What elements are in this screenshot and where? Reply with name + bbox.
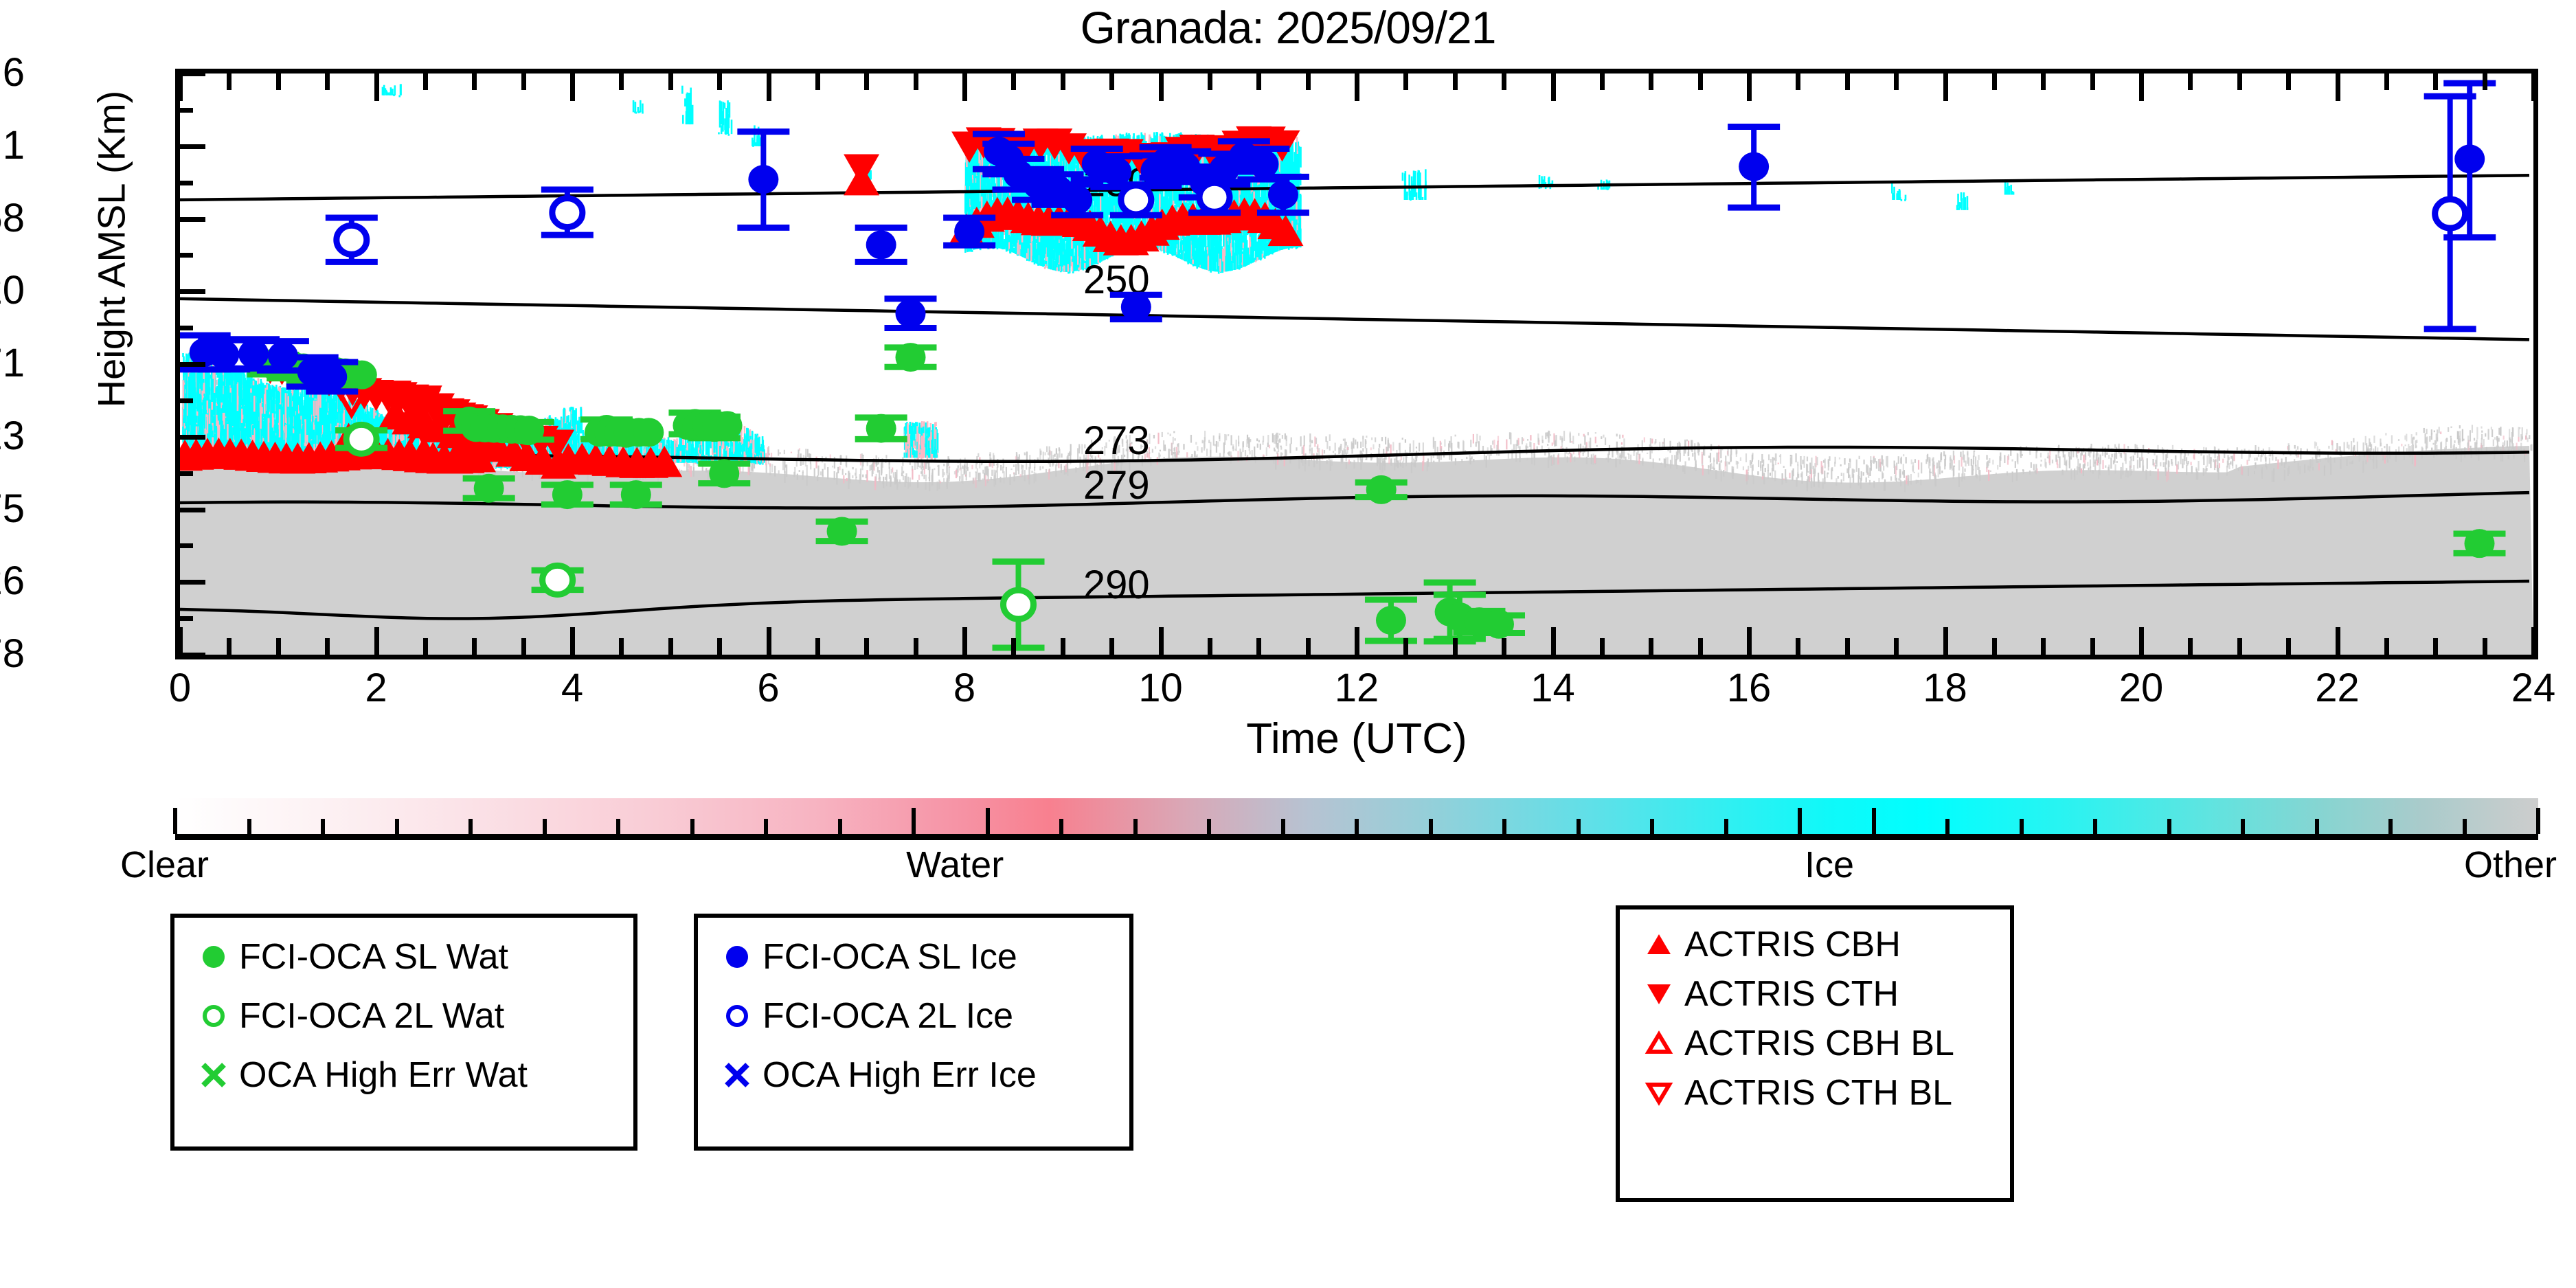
x-axis-tick xyxy=(815,638,820,655)
x-axis-tick xyxy=(325,74,330,90)
x-axis-tick-label: 14 xyxy=(1498,665,1608,711)
colorbar-tick xyxy=(1502,819,1506,834)
x-axis-tick xyxy=(914,74,918,90)
x-axis-tick xyxy=(1943,627,1948,655)
x-axis-tick xyxy=(1306,74,1311,90)
x-axis-tick xyxy=(2286,74,2291,90)
x-axis-tick xyxy=(1502,74,1506,90)
x-axis-tick xyxy=(178,74,183,101)
colorbar-tick xyxy=(1429,819,1433,834)
legend-ice-item[interactable]: FCI-OCA SL Ice xyxy=(712,941,1122,973)
y-axis-minor-tick xyxy=(175,108,193,113)
colorbar-tick xyxy=(468,819,473,834)
x-axis-tick xyxy=(2237,638,2242,655)
x-axis-tick xyxy=(276,638,281,655)
x-axis-tick xyxy=(1845,74,1850,90)
legend-x-icon xyxy=(199,1060,229,1090)
x-axis-tick xyxy=(1159,74,1164,101)
legend-open-circle-icon xyxy=(723,1002,751,1030)
x-axis-tick xyxy=(1894,638,1899,655)
x-axis-tick xyxy=(2483,638,2487,655)
legend-x-icon xyxy=(722,1060,752,1090)
legend-water-label: FCI-OCA 2L Wat xyxy=(239,998,504,1034)
x-axis-tick xyxy=(2336,74,2340,101)
colorbar-tick xyxy=(1945,819,1950,834)
x-axis-tick xyxy=(619,638,624,655)
x-axis-tick-label: 4 xyxy=(517,665,627,711)
x-axis-tick xyxy=(1845,638,1850,655)
legend-triangle-up-icon xyxy=(1644,929,1674,960)
y-axis-tick-label: 0.78 xyxy=(0,634,25,674)
x-axis-tick xyxy=(2139,627,2144,655)
colorbar-tick xyxy=(2388,819,2393,834)
colorbar-tick xyxy=(173,808,177,834)
y-axis-tick xyxy=(175,217,205,222)
x-axis-tick xyxy=(767,627,771,655)
x-axis-tick xyxy=(1796,74,1800,90)
legend-actris-item[interactable]: ACTRIS CBH xyxy=(1634,929,2003,960)
y-axis-label: Height AMSL (Km) xyxy=(89,57,134,442)
x-axis-tick xyxy=(2531,74,2536,101)
x-axis-tick xyxy=(1061,638,1065,655)
legend-actris-item[interactable]: ACTRIS CTH xyxy=(1634,978,2003,1010)
colorbar-tick xyxy=(1133,819,1138,834)
x-axis-tick xyxy=(2188,74,2193,90)
x-axis-tick xyxy=(227,638,231,655)
colorbar-tick xyxy=(2463,819,2467,834)
colorbar-tick xyxy=(2020,819,2024,834)
x-axis-tick xyxy=(2139,74,2144,101)
x-axis-tick xyxy=(374,627,379,655)
colorbar-tick xyxy=(690,819,694,834)
x-axis-tick xyxy=(767,74,771,101)
x-axis-tick xyxy=(521,74,526,90)
legend-ice-marker xyxy=(712,1060,762,1090)
x-axis-tick xyxy=(668,74,673,90)
y-axis-tick xyxy=(175,289,205,294)
legend-actris-marker xyxy=(1634,1028,1684,1059)
y-axis-minor-tick xyxy=(175,398,193,403)
x-axis-tick xyxy=(1992,74,1997,90)
x-axis-tick xyxy=(2336,627,2340,655)
legend-ice-label: FCI-OCA 2L Ice xyxy=(762,998,1013,1034)
colorbar-tick xyxy=(986,808,990,834)
x-axis-tick-label: 0 xyxy=(125,665,235,711)
legend-actris-marker xyxy=(1634,1078,1684,1108)
colorbar-label: Water xyxy=(906,844,1004,886)
x-axis-tick xyxy=(815,74,820,90)
x-axis-tick xyxy=(227,74,231,90)
x-axis-tick xyxy=(1011,638,1016,655)
x-axis-tick xyxy=(521,638,526,655)
y-axis-tick xyxy=(175,508,205,512)
x-axis-tick xyxy=(2041,638,2046,655)
x-axis-tick xyxy=(1502,638,1506,655)
legend-ice-item[interactable]: FCI-OCA 2L Ice xyxy=(712,1000,1122,1032)
legend-actris-marker xyxy=(1634,929,1684,960)
legend-water-marker xyxy=(188,943,239,971)
x-axis-tick xyxy=(717,638,722,655)
y-axis-tick-label: 2.26 xyxy=(0,561,25,601)
x-axis-tick-label: 6 xyxy=(714,665,824,711)
x-axis-tick xyxy=(423,74,428,90)
legend-actris[interactable]: ACTRIS CBHACTRIS CTHACTRIS CBH BLACTRIS … xyxy=(1616,905,2014,1202)
y-axis-minor-tick xyxy=(175,543,193,548)
legend-actris-label: ACTRIS CBH BL xyxy=(1684,1026,1954,1061)
x-axis-tick xyxy=(1649,74,1653,90)
colorbar-tick xyxy=(2241,819,2245,834)
legend-water-marker xyxy=(188,1002,239,1030)
x-axis-tick xyxy=(1208,638,1212,655)
legend-actris-label: ACTRIS CBH xyxy=(1684,927,1901,962)
x-axis-tick xyxy=(668,638,673,655)
x-axis-tick xyxy=(914,638,918,655)
x-axis-tick xyxy=(1109,74,1114,90)
y-axis-tick-label: 6.71 xyxy=(0,343,25,383)
x-axis-tick xyxy=(1698,74,1703,90)
plot-area: 230250273279290 xyxy=(175,69,2538,659)
x-axis-tick xyxy=(2483,74,2487,90)
x-axis-tick xyxy=(1551,74,1556,101)
y-axis-minor-tick xyxy=(175,253,193,258)
x-axis-tick xyxy=(717,74,722,90)
legend-actris-item[interactable]: ACTRIS CBH BL xyxy=(1634,1028,2003,1059)
x-axis-tick xyxy=(2384,74,2389,90)
legend-filled-circle-icon xyxy=(200,943,227,971)
legend-triangle-down-icon xyxy=(1644,979,1674,1009)
legend-ice-label: OCA High Err Ice xyxy=(762,1057,1037,1093)
x-axis-tick xyxy=(2384,638,2389,655)
legend-filled-circle-icon xyxy=(723,943,751,971)
colorbar-tick xyxy=(1355,819,1359,834)
x-axis-tick xyxy=(2041,74,2046,90)
legend-ice-marker xyxy=(712,943,762,971)
x-axis-tick-label: 10 xyxy=(1106,665,1216,711)
x-axis-tick-label: 16 xyxy=(1694,665,1804,711)
x-axis-tick xyxy=(1649,638,1653,655)
y-axis-minor-tick xyxy=(175,326,193,330)
legend-water-label: OCA High Err Wat xyxy=(239,1057,528,1093)
colorbar-tick xyxy=(1207,819,1211,834)
legend-ice[interactable]: FCI-OCA SL IceFCI-OCA 2L IceOCA High Err… xyxy=(694,914,1133,1151)
colorbar-tick xyxy=(1577,819,1581,834)
y-axis-tick-label: 11.1 xyxy=(0,126,25,166)
x-axis-tick xyxy=(1992,638,1997,655)
fci-oca-ice-markers xyxy=(180,83,2496,392)
colorbar-tick xyxy=(2093,819,2097,834)
colorbar-tick xyxy=(1650,819,1654,834)
x-axis-tick xyxy=(1061,74,1065,90)
chart-title: Granada: 2025/09/21 xyxy=(0,1,2576,54)
legend-actris-label: ACTRIS CTH BL xyxy=(1684,1075,1952,1111)
x-axis-tick xyxy=(472,638,477,655)
plot-canvas: 230250273279290 xyxy=(180,74,2533,655)
legend-open-circle-icon xyxy=(200,1002,227,1030)
y-axis-tick xyxy=(175,144,205,149)
legend-open-triangle-down-icon xyxy=(1644,1078,1674,1108)
legend-ice-marker xyxy=(712,1002,762,1030)
colorbar-tick xyxy=(1059,819,1063,834)
colorbar-tick xyxy=(764,819,768,834)
y-axis-minor-tick xyxy=(175,471,193,476)
legend-water[interactable]: FCI-OCA SL WatFCI-OCA 2L WatOCA High Err… xyxy=(170,914,637,1151)
x-axis-tick-label: 8 xyxy=(909,665,1019,711)
x-axis-tick-label: 2 xyxy=(321,665,431,711)
legend-open-triangle-up-icon xyxy=(1644,1028,1674,1059)
x-axis-tick xyxy=(570,627,575,655)
x-axis-tick xyxy=(2237,74,2242,90)
legend-water-item[interactable]: FCI-OCA 2L Wat xyxy=(188,1000,626,1032)
x-axis-tick xyxy=(1600,638,1605,655)
colorbar-tick xyxy=(912,808,916,834)
x-axis-tick xyxy=(1011,74,1016,90)
x-axis-tick-label: 12 xyxy=(1302,665,1412,711)
x-axis-tick xyxy=(1943,74,1948,101)
x-axis-tick xyxy=(276,74,281,90)
x-axis-tick xyxy=(1355,74,1359,101)
colorbar-tick xyxy=(1724,819,1728,834)
x-axis-tick xyxy=(472,74,477,90)
y-axis-tick xyxy=(175,362,205,367)
x-axis-tick xyxy=(2090,638,2095,655)
x-axis-tick xyxy=(962,74,967,101)
x-axis-tick xyxy=(2286,638,2291,655)
x-axis-tick xyxy=(1208,74,1212,90)
colorbar-label: Other xyxy=(2464,844,2557,886)
x-axis-tick xyxy=(2433,74,2438,90)
x-axis-tick xyxy=(1403,74,1408,90)
x-axis-tick xyxy=(2531,627,2536,655)
colorbar-tick xyxy=(247,819,251,834)
legend-ice-item[interactable]: OCA High Err Ice xyxy=(712,1059,1122,1091)
y-axis-tick-label: 3.75 xyxy=(0,489,25,529)
x-axis-label: Time (UTC) xyxy=(175,714,2538,763)
colorbar-tick xyxy=(1872,808,1876,834)
legend-water-item[interactable]: FCI-OCA SL Wat xyxy=(188,941,626,973)
x-axis-tick xyxy=(1894,74,1899,90)
colorbar-tick xyxy=(543,819,547,834)
x-axis-tick xyxy=(1796,638,1800,655)
colorbar-axis xyxy=(175,834,2538,840)
x-axis-tick xyxy=(423,638,428,655)
legend-actris-marker xyxy=(1634,979,1684,1009)
colorbar-label: Clear xyxy=(120,844,209,886)
x-axis-tick xyxy=(962,627,967,655)
legend-ice-label: FCI-OCA SL Ice xyxy=(762,939,1017,975)
y-axis-minor-tick xyxy=(175,616,193,621)
y-axis-tick xyxy=(175,435,205,440)
x-axis-tick xyxy=(1159,627,1164,655)
y-axis-tick xyxy=(175,580,205,585)
colorbar-tick xyxy=(838,819,842,834)
x-axis-tick xyxy=(1306,638,1311,655)
x-axis-tick xyxy=(1551,627,1556,655)
x-axis-tick-label: 22 xyxy=(2283,665,2393,711)
x-axis-tick xyxy=(1256,74,1261,90)
colorbar-tick xyxy=(616,819,620,834)
x-axis-tick xyxy=(1698,638,1703,655)
legend-water-item[interactable]: OCA High Err Wat xyxy=(188,1059,626,1091)
colorbar-tick xyxy=(2536,808,2540,834)
x-axis-tick xyxy=(1747,74,1752,101)
x-axis-tick xyxy=(1453,74,1458,90)
x-axis-tick xyxy=(2090,74,2095,90)
legend-actris-label: ACTRIS CTH xyxy=(1684,976,1899,1012)
x-axis-tick xyxy=(1453,638,1458,655)
x-axis-tick xyxy=(570,74,575,101)
legend-actris-item[interactable]: ACTRIS CTH BL xyxy=(1634,1077,2003,1109)
y-axis-tick-label: 9.68 xyxy=(0,199,25,238)
colorbar-tick xyxy=(321,819,325,834)
colorbar-tick xyxy=(395,819,399,834)
x-axis-tick-label: 24 xyxy=(2478,665,2576,711)
x-axis-tick xyxy=(1256,638,1261,655)
legend-water-marker xyxy=(188,1060,239,1090)
figure-canvas: Granada: 2025/09/21 Height AMSL (Km) Tim… xyxy=(0,0,2576,1288)
y-axis-tick-label: 8.20 xyxy=(0,271,25,310)
x-axis-tick xyxy=(374,74,379,101)
legend-water-label: FCI-OCA SL Wat xyxy=(239,939,508,975)
x-axis-tick xyxy=(2433,638,2438,655)
x-axis-tick xyxy=(2188,638,2193,655)
x-axis-tick xyxy=(619,74,624,90)
x-axis-tick xyxy=(178,627,183,655)
colorbar-tick xyxy=(2315,819,2319,834)
x-axis-tick-label: 20 xyxy=(2086,665,2196,711)
x-axis-tick xyxy=(864,74,869,90)
x-axis-tick xyxy=(325,638,330,655)
x-axis-tick xyxy=(1747,627,1752,655)
colorbar-tick xyxy=(1281,819,1285,834)
x-axis-tick xyxy=(1109,638,1114,655)
colorbar-tick xyxy=(2167,819,2171,834)
y-axis-tick-label: 5.23 xyxy=(0,416,25,456)
x-axis-tick xyxy=(864,638,869,655)
y-axis-minor-tick xyxy=(175,181,193,185)
x-axis-tick xyxy=(1600,74,1605,90)
x-axis-tick-label: 18 xyxy=(1890,665,2000,711)
y-axis-tick-label: 12.6 xyxy=(0,53,25,93)
colorbar-label: Ice xyxy=(1805,844,1854,886)
colorbar-tick xyxy=(1798,808,1802,834)
x-axis-tick xyxy=(1403,638,1408,655)
x-axis-tick xyxy=(1355,627,1359,655)
